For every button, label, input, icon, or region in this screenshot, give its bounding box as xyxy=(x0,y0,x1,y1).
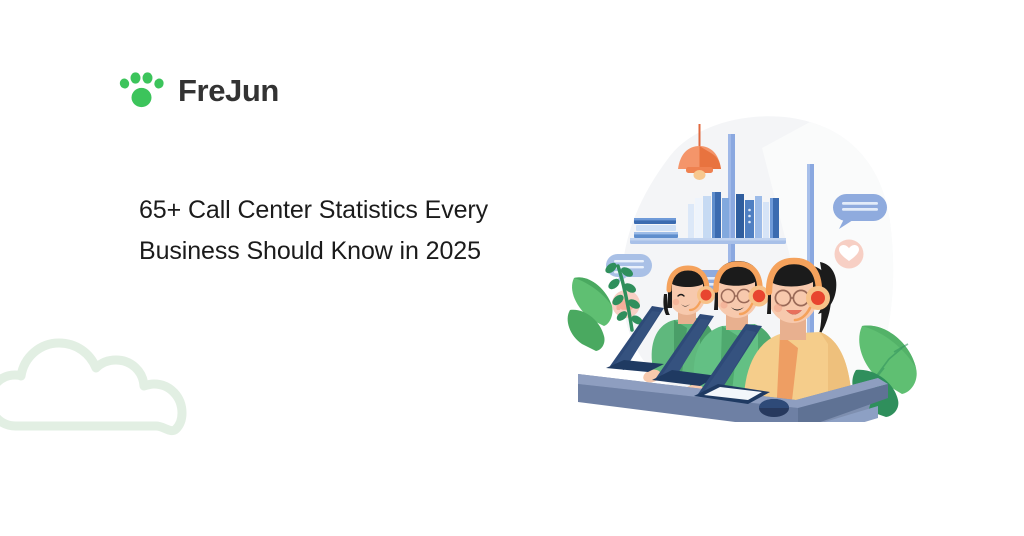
mouse xyxy=(759,399,789,417)
heart-bubble xyxy=(835,240,864,269)
page-canvas: FreJun 65+ Call Center Statistics Every … xyxy=(0,0,1024,536)
paw-print-icon xyxy=(118,70,166,110)
brand-name: FreJun xyxy=(178,75,279,106)
stacked-books xyxy=(634,218,678,238)
brand-logo[interactable]: FreJun xyxy=(118,70,279,110)
page-title: 65+ Call Center Statistics Every Busines… xyxy=(139,190,549,271)
call-center-team-illustration xyxy=(548,112,968,422)
cloud-outline-icon xyxy=(0,330,204,450)
